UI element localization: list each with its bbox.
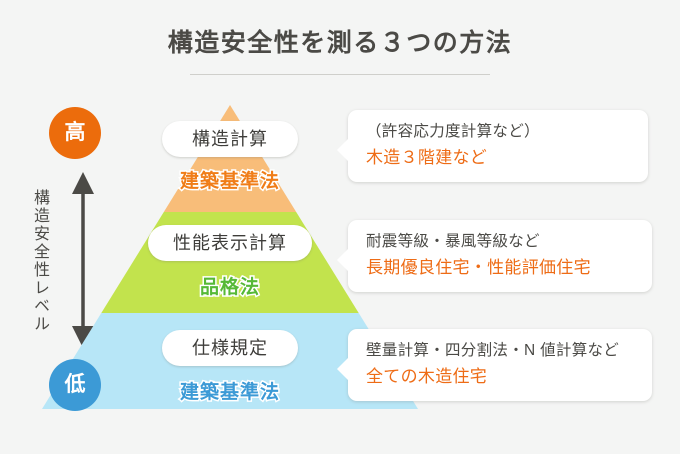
callout-tail-icon-bottom (337, 357, 349, 381)
tier-method-pill-bottom: 仕様規定 (162, 330, 298, 366)
callout-box-middle: 耐震等級・暴風等級など 長期優良住宅・性能評価住宅 (348, 220, 652, 292)
tier-law-label-middle: 品格法 (150, 272, 310, 299)
callout-box-bottom: 壁量計算・四分割法・N 値計算など 全ての木造住宅 (348, 329, 652, 401)
tier-method-pill-middle: 性能表示計算 (148, 225, 312, 261)
callout-box-top: （許容応力度計算など） 木造３階建など (348, 110, 648, 182)
tier-law-label-top: 建築基準法 (150, 166, 310, 193)
tier-law-label-bottom: 建築基準法 (150, 377, 310, 404)
callout-tail-icon-top (337, 138, 349, 162)
axis-low-badge: 低 (49, 359, 101, 411)
tier-method-pill-top: 構造計算 (162, 121, 298, 157)
callout-top-line2: 木造３階建など (366, 144, 648, 171)
title-block: 構造安全性を測る３つの方法 (0, 26, 680, 60)
title-divider (190, 74, 490, 75)
infographic-canvas: 構造安全性を測る３つの方法 高 構造安全性レベル 低 構造計算 建築基準法 性能… (0, 0, 680, 454)
callout-middle-line1: 耐震等級・暴風等級など (366, 229, 652, 254)
callout-tail-icon-middle (337, 248, 349, 272)
page-title: 構造安全性を測る３つの方法 (0, 26, 680, 60)
callout-top-line1: （許容応力度計算など） (366, 119, 648, 144)
callout-middle-line2: 長期優良住宅・性能評価住宅 (366, 254, 652, 281)
callout-bottom-line1: 壁量計算・四分割法・N 値計算など (366, 338, 652, 363)
callout-bottom-line2: 全ての木造住宅 (366, 363, 652, 390)
